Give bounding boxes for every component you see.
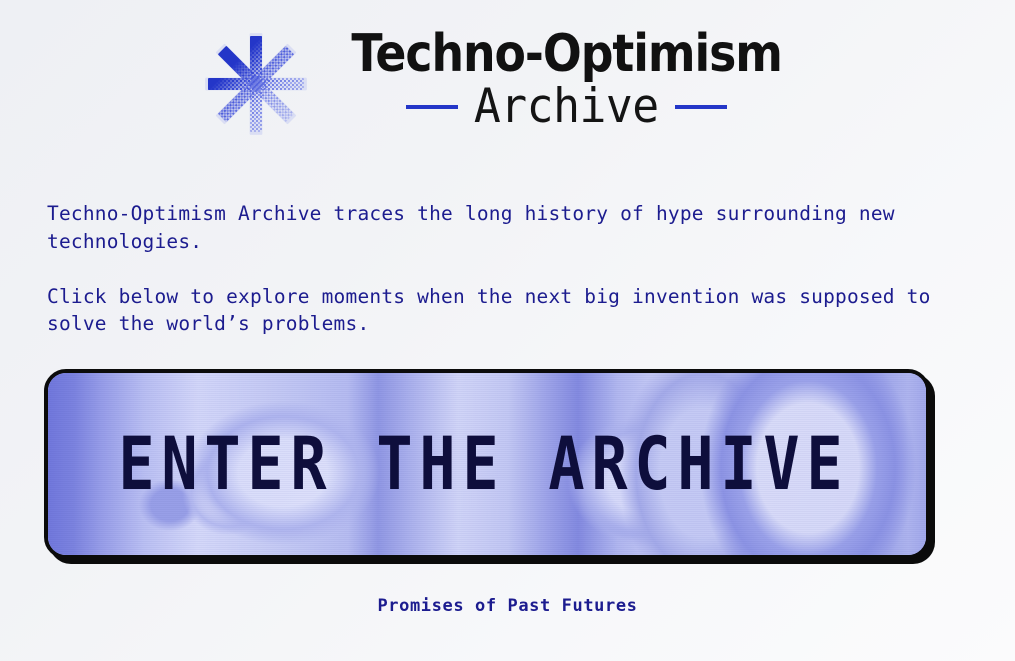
- site-title-primary: Techno-Optimism: [351, 28, 782, 81]
- landing-page: Techno-Optimism Archive Techno-Optimism …: [0, 0, 1015, 661]
- eight-point-starburst-icon: [204, 32, 308, 136]
- enter-archive-button-label: ENTER THE ARCHIVE: [118, 427, 856, 500]
- site-footer: Promises of Past Futures: [0, 596, 1015, 616]
- site-title-secondary: Archive: [474, 82, 659, 131]
- footer-tagline: Promises of Past Futures: [377, 596, 637, 616]
- logo-lockup: Techno-Optimism Archive: [204, 26, 811, 136]
- intro-copy: Techno-Optimism Archive traces the long …: [47, 200, 967, 338]
- intro-paragraph-2: Click below to explore moments when the …: [47, 283, 967, 338]
- wordmark: Techno-Optimism Archive: [322, 26, 811, 131]
- site-title-secondary-row: Archive: [406, 82, 727, 131]
- rule-right-icon: [675, 105, 727, 109]
- enter-archive-button[interactable]: ENTER THE ARCHIVE: [44, 369, 930, 559]
- rule-left-icon: [406, 105, 458, 109]
- enter-archive-cta-wrapper: ENTER THE ARCHIVE: [44, 369, 930, 564]
- intro-paragraph-1: Techno-Optimism Archive traces the long …: [47, 200, 967, 255]
- site-header: Techno-Optimism Archive: [0, 0, 1015, 136]
